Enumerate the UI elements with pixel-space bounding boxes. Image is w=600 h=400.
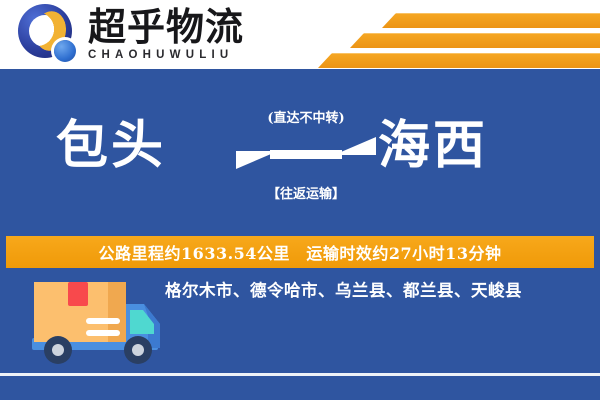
logistics-route-banner: 超乎物流 CHAOHUWULIU 包头 (直达不中转) 【往返运输】 海 xyxy=(0,0,600,400)
coverage-cities-label: 格尔木市、德令哈市、乌兰县、都兰县、天峻县 xyxy=(165,279,585,302)
route-arrow-group: (直达不中转) 【往返运输】 xyxy=(236,107,376,215)
header-stripes-decoration xyxy=(290,5,600,67)
header-stripe-3 xyxy=(318,53,600,68)
origin-city-label: 包头 xyxy=(56,103,166,178)
round-trip-note: 【往返运输】 xyxy=(236,183,376,202)
road-line xyxy=(0,373,600,376)
brand-name-en: CHAOHUWULIU xyxy=(88,50,244,62)
bidirectional-arrow-icon xyxy=(236,133,376,173)
distance-duration-bar: 公路里程约1633.54公里 运输时效约27小时13分钟 xyxy=(6,236,594,268)
banner-header: 超乎物流 CHAOHUWULIU xyxy=(0,0,600,73)
coverage-section: 格尔木市、德令哈市、乌兰县、都兰县、天峻县 xyxy=(0,268,600,400)
distance-duration-text: 公路里程约1633.54公里 运输时效约27小时13分钟 xyxy=(99,240,502,264)
direct-shipping-note: (直达不中转) xyxy=(236,107,376,126)
delivery-truck-icon xyxy=(28,276,168,374)
brand-text-block: 超乎物流 CHAOHUWULIU xyxy=(88,8,244,62)
chaohu-circle-logo-icon xyxy=(18,4,80,66)
brand-logo-block[interactable]: 超乎物流 CHAOHUWULIU xyxy=(18,4,244,66)
logo-accent-dot-shape xyxy=(54,40,76,62)
header-stripe-1 xyxy=(382,13,600,28)
brand-name-cn: 超乎物流 xyxy=(88,8,244,46)
destination-city-label: 海西 xyxy=(378,103,488,178)
route-panel: 包头 (直达不中转) 【往返运输】 海西 xyxy=(0,73,600,233)
header-stripe-2 xyxy=(350,33,600,48)
